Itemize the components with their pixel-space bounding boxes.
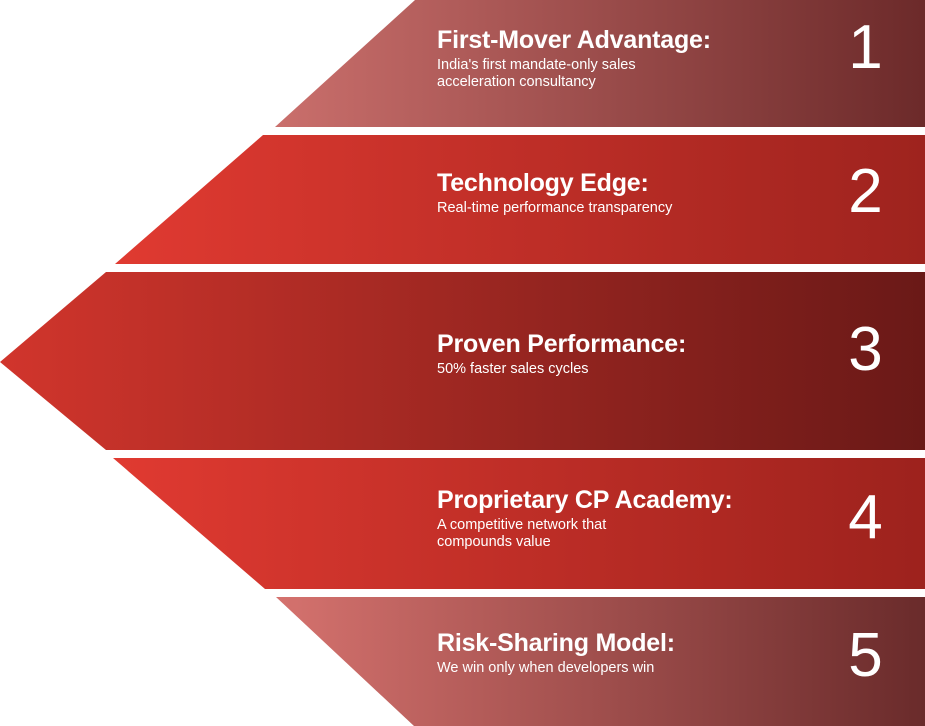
- row-1-shape: [0, 0, 925, 127]
- row-3-shape: [0, 272, 925, 450]
- funnel-row-1[interactable]: First-Mover Advantage: India's first man…: [0, 0, 925, 127]
- funnel-row-2[interactable]: Technology Edge: Real-time performance t…: [0, 135, 925, 264]
- row-5-shape: [0, 597, 925, 726]
- funnel-row-4[interactable]: Proprietary CP Academy: A competitive ne…: [0, 458, 925, 589]
- row-4-shape: [0, 458, 925, 589]
- funnel-row-5[interactable]: Risk-Sharing Model: We win only when dev…: [0, 597, 925, 726]
- funnel-row-3[interactable]: Proven Performance: 50% faster sales cyc…: [0, 272, 925, 450]
- infographic-canvas: First-Mover Advantage: India's first man…: [0, 0, 925, 726]
- row-2-shape: [0, 135, 925, 264]
